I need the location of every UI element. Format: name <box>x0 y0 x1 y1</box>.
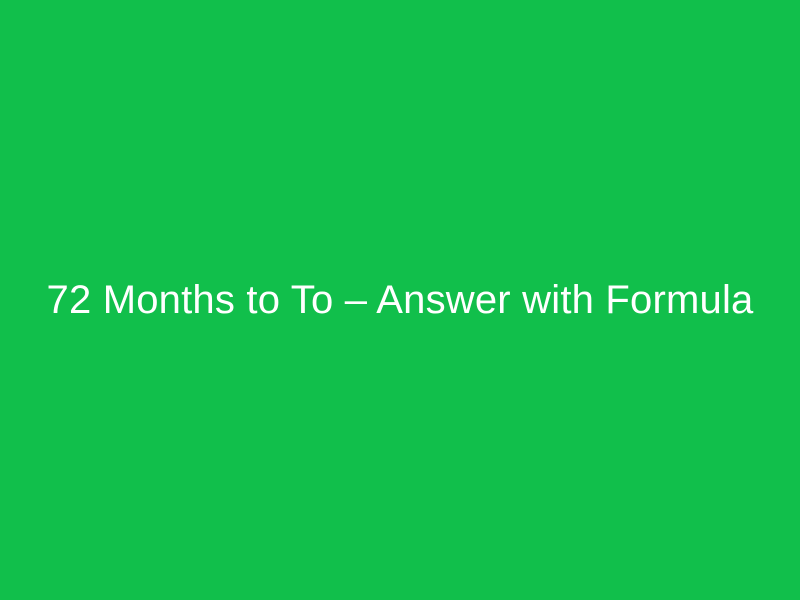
hero-banner: 72 Months to To – Answer with Formula <box>0 0 800 600</box>
page-title: 72 Months to To – Answer with Formula <box>0 275 800 325</box>
